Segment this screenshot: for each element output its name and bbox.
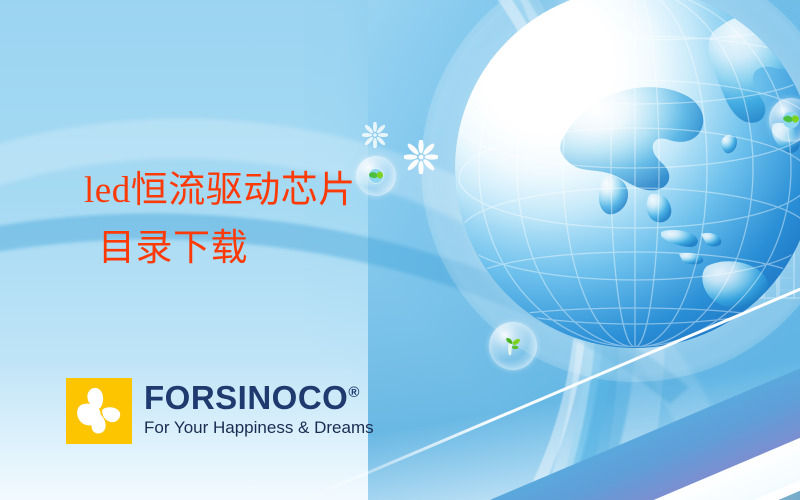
- brand-tagline: For Your Happiness & Dreams: [144, 417, 374, 439]
- bubble-sprout: [489, 322, 537, 370]
- headline-block: led恒流驱动芯片 目录下载: [84, 162, 356, 278]
- promo-banner: led恒流驱动芯片 目录下载 FORSINOCO® For Your Happi…: [0, 0, 800, 500]
- brand-wordmark-text: FORSINOCO: [144, 379, 348, 416]
- headline-line-2: 目录下载: [84, 220, 356, 278]
- registered-trademark-symbol: ®: [348, 384, 360, 401]
- brand-text-block: FORSINOCO® For Your Happiness & Dreams: [144, 378, 374, 439]
- bubble-sprout-motif-icon: [500, 333, 526, 359]
- forsinoco-pinwheel-mark: [66, 378, 132, 444]
- bubble-globe: [356, 156, 396, 196]
- bubble-edge-motif-icon: [780, 109, 800, 131]
- headline-line-1: led恒流驱动芯片: [84, 162, 356, 220]
- pinwheel-flower-icon: [66, 378, 132, 444]
- bubble-globe-motif-icon: [366, 166, 386, 186]
- world-globe: [455, 0, 800, 348]
- brand-wordmark: FORSINOCO®: [144, 380, 374, 416]
- brand-logo-lockup: FORSINOCO® For Your Happiness & Dreams: [66, 378, 374, 444]
